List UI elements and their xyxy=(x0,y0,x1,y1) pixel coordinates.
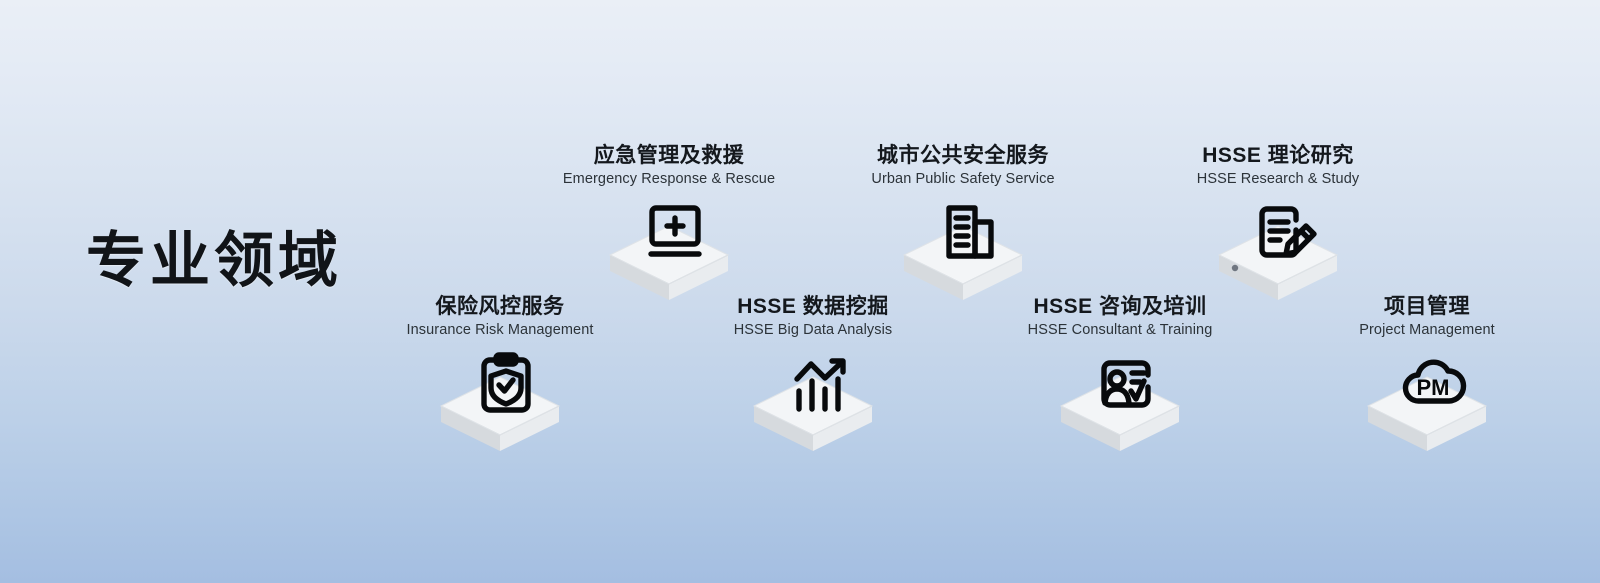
professional-domains-banner: 专业领域 应急管理及救援 Emergency Response & Rescue xyxy=(0,0,1600,583)
domain-item-emergency-response-rescue[interactable]: 应急管理及救援 Emergency Response & Rescue xyxy=(519,144,819,310)
domain-item-project-management[interactable]: 项目管理 Project Management PM xyxy=(1277,295,1577,461)
domain-icon-podium xyxy=(813,200,1113,310)
first-aid-monitor-icon xyxy=(639,200,711,272)
cloud-pm-label: PM xyxy=(1417,375,1450,400)
domain-icon-podium: PM xyxy=(1277,351,1577,461)
domain-label-cn: HSSE 数据挖掘 xyxy=(663,295,963,318)
domain-label-cn: HSSE 理论研究 xyxy=(1128,144,1428,167)
domain-label-en: HSSE Consultant & Training xyxy=(970,322,1270,339)
domain-icon-podium xyxy=(1128,200,1428,310)
domain-item-hsse-big-data-analysis[interactable]: HSSE 数据挖掘 HSSE Big Data Analysis xyxy=(663,295,963,461)
domain-item-hsse-consultant-training[interactable]: HSSE 咨询及培训 HSSE Consultant & Training xyxy=(970,295,1270,461)
domain-label-cn: HSSE 咨询及培训 xyxy=(970,295,1270,318)
domain-label-en: HSSE Research & Study xyxy=(1128,171,1428,188)
document-pencil-icon xyxy=(1248,200,1320,272)
domain-label-cn: 保险风控服务 xyxy=(350,295,650,318)
city-buildings-icon xyxy=(933,200,1005,272)
domain-icon-podium xyxy=(970,351,1270,461)
domain-item-insurance-risk-management[interactable]: 保险风控服务 Insurance Risk Management xyxy=(350,295,650,461)
domain-label-en: Emergency Response & Rescue xyxy=(519,171,819,188)
domain-label-en: Insurance Risk Management xyxy=(350,322,650,339)
domain-label-en: HSSE Big Data Analysis xyxy=(663,322,963,339)
page-title: 专业领域 xyxy=(86,228,342,294)
domain-label-cn: 城市公共安全服务 xyxy=(813,144,1113,167)
domain-label-en: Project Management xyxy=(1277,322,1577,339)
domain-icon-podium xyxy=(519,200,819,310)
domain-label-en: Urban Public Safety Service xyxy=(813,171,1113,188)
cloud-pm-icon: PM xyxy=(1397,351,1469,423)
clipboard-shield-check-icon xyxy=(470,351,542,423)
domain-label-cn: 项目管理 xyxy=(1277,295,1577,318)
domain-item-urban-public-safety-service[interactable]: 城市公共安全服务 Urban Public Safety Service xyxy=(813,144,1113,310)
domain-icon-podium xyxy=(350,351,650,461)
domain-icon-podium xyxy=(663,351,963,461)
domain-item-hsse-research-study[interactable]: HSSE 理论研究 HSSE Research & Study xyxy=(1128,144,1428,310)
bar-chart-trend-icon xyxy=(783,351,855,423)
domain-label-cn: 应急管理及救援 xyxy=(519,144,819,167)
person-id-card-check-icon xyxy=(1090,351,1162,423)
